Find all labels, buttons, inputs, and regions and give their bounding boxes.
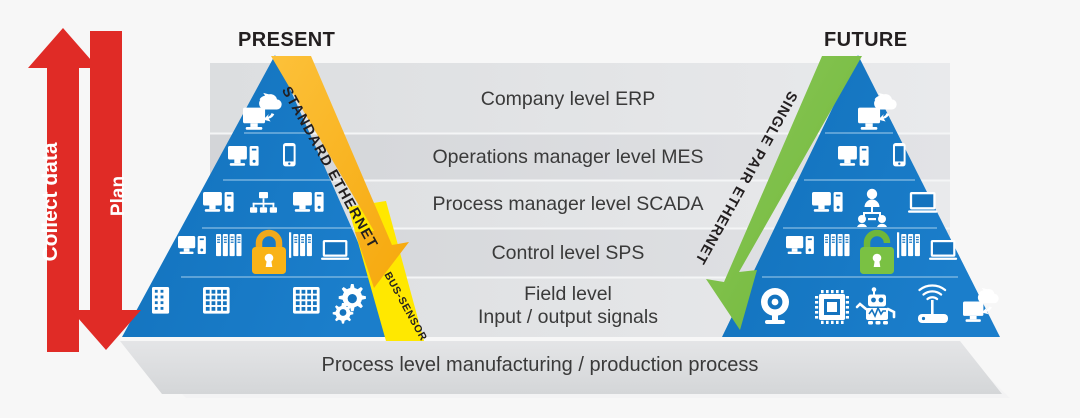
level-label-company: Company level ERP: [398, 88, 738, 111]
smartphone-icon: [893, 143, 906, 166]
plan-arrow-label: Plan: [108, 126, 130, 266]
level-label-process-manager: Process manager level SCADA: [398, 193, 738, 216]
level-label-operations: Operations manager level MES: [398, 146, 738, 169]
smartphone-icon: [283, 143, 296, 166]
keypad-io-icon: [293, 287, 320, 314]
diagram-canvas: PRESENT FUTURE Collect data Plan Company…: [0, 0, 1080, 418]
base-bar-label: Process level manufacturing / production…: [140, 354, 940, 377]
io-module-icon: [152, 287, 169, 314]
level-label-field: Field level Input / output signals: [398, 283, 738, 329]
collect-data-arrow-label: Collect data: [39, 132, 63, 272]
heading-future: FUTURE: [824, 29, 908, 52]
heading-present: PRESENT: [238, 29, 335, 52]
keypad-io-icon: [203, 287, 230, 314]
plan-arrow: [71, 31, 141, 350]
level-label-control: Control level SPS: [398, 242, 738, 265]
chip-icon: [815, 290, 849, 324]
